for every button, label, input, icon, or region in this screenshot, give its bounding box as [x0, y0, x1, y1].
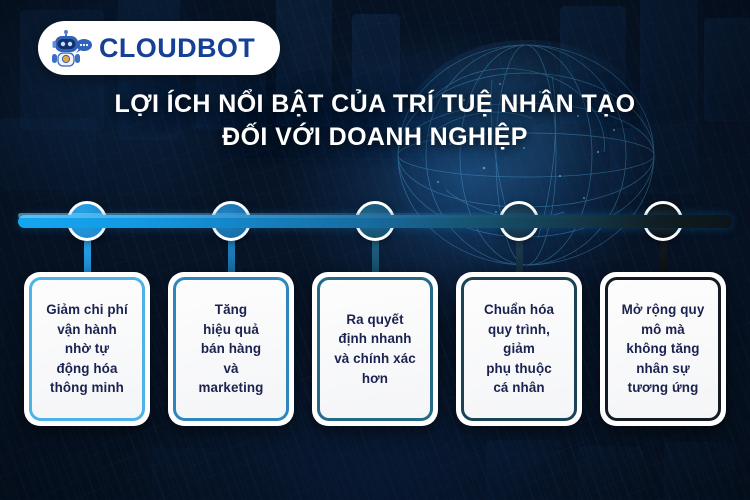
benefit-card-1[interactable]: Giảm chi phí vận hành nhờ tự động hóa th… [24, 272, 150, 426]
timeline-connector-3 [372, 240, 379, 274]
benefit-card-frame: Tăng hiệu quả bán hàng và marketing [173, 277, 289, 421]
benefit-card-text: Chuẩn hóa quy trình, giảm phụ thuộc cá n… [484, 300, 554, 398]
benefit-card-5[interactable]: Mở rộng quy mô mà không tăng nhân sự tươ… [600, 272, 726, 426]
timeline-connector-5 [660, 240, 667, 274]
timeline-connector-2 [228, 240, 235, 274]
benefit-card-frame: Giảm chi phí vận hành nhờ tự động hóa th… [29, 277, 145, 421]
benefit-card-4[interactable]: Chuẩn hóa quy trình, giảm phụ thuộc cá n… [456, 272, 582, 426]
benefit-card-text: Tăng hiệu quả bán hàng và marketing [199, 300, 264, 398]
benefit-card-frame: Mở rộng quy mô mà không tăng nhân sự tươ… [605, 277, 721, 421]
timeline-connector-4 [516, 240, 523, 274]
brand-logo[interactable]: CLOUDBOT [38, 21, 280, 75]
benefit-card-3[interactable]: Ra quyết định nhanh và chính xác hơn [312, 272, 438, 426]
benefit-card-text: Mở rộng quy mô mà không tăng nhân sự tươ… [622, 300, 705, 398]
timeline-connector-1 [84, 240, 91, 274]
benefit-card-text: Ra quyết định nhanh và chính xác hơn [334, 310, 416, 388]
benefit-card-2[interactable]: Tăng hiệu quả bán hàng và marketing [168, 272, 294, 426]
page-title: LỢI ÍCH NỔI BẬT CỦA TRÍ TUỆ NHÂN TẠO ĐỐI… [0, 88, 750, 154]
timeline-track-highlight [18, 213, 732, 218]
infographic-canvas: CLOUDBOT LỢI ÍCH NỔI BẬT CỦA TRÍ TUỆ NHÂ… [0, 0, 750, 500]
page-title-line1: LỢI ÍCH NỔI BẬT CỦA TRÍ TUỆ NHÂN TẠO [0, 88, 750, 121]
benefit-card-frame: Ra quyết định nhanh và chính xác hơn [317, 277, 433, 421]
benefit-card-frame: Chuẩn hóa quy trình, giảm phụ thuộc cá n… [461, 277, 577, 421]
robot-icon [48, 26, 92, 70]
page-title-line2: ĐỐI VỚI DOANH NGHIỆP [0, 121, 750, 154]
benefit-card-text: Giảm chi phí vận hành nhờ tự động hóa th… [46, 300, 128, 398]
brand-name: CLOUDBOT [99, 35, 255, 62]
